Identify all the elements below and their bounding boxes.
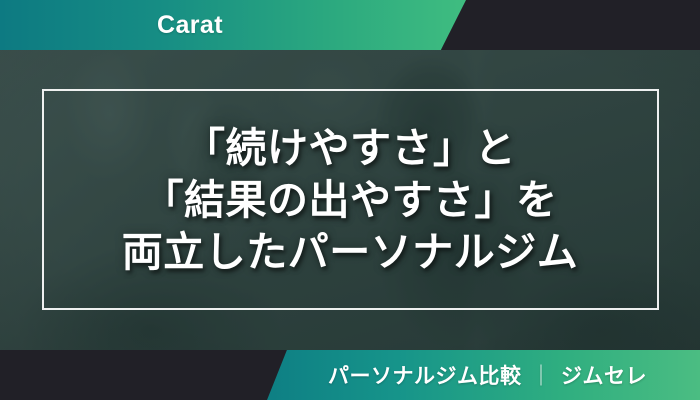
footer-site-name: ジムセレ <box>561 360 647 390</box>
footer-caption: パーソナルジム比較 ｜ ジムセレ <box>285 350 700 400</box>
headline-frame <box>42 89 659 310</box>
footer-separator: ｜ <box>531 360 553 390</box>
eyecatch-banner: Carat 「続けやすさ」と 「結果の出やすさ」を 両立したパーソナルジム パー… <box>0 0 700 400</box>
brand-title: Carat <box>0 0 380 50</box>
top-bar: Carat <box>0 0 700 50</box>
bottom-bar: パーソナルジム比較 ｜ ジムセレ <box>0 350 700 400</box>
footer-category: パーソナルジム比較 <box>328 360 522 390</box>
